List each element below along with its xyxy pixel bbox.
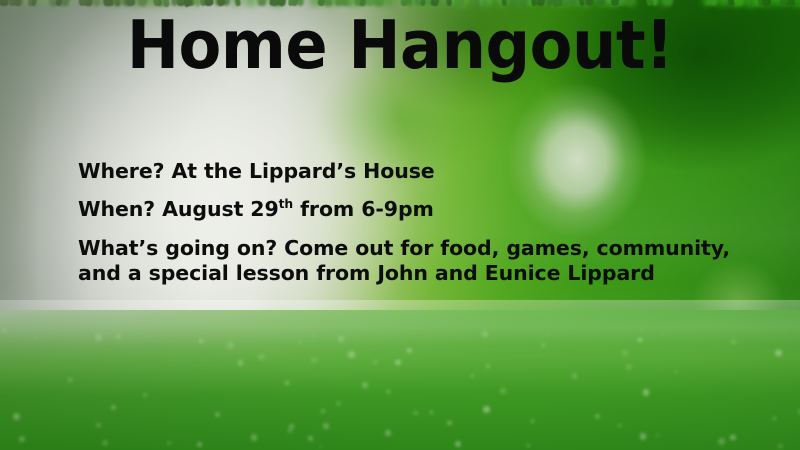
detail-line-when: When? August 29th from 6-9pm bbox=[78, 199, 768, 220]
details-block: Where? At the Lippard’s House When? Augu… bbox=[78, 161, 768, 287]
slide-title: Home Hangout! bbox=[28, 12, 772, 79]
when-suffix: from 6-9pm bbox=[293, 197, 434, 221]
when-ordinal-suffix: th bbox=[279, 197, 293, 211]
slide-content: Home Hangout! Where? At the Lippard’s Ho… bbox=[0, 0, 800, 450]
detail-line-what: What’s going on? Come out for food, game… bbox=[78, 236, 758, 287]
when-prefix: When? August 29 bbox=[78, 197, 279, 221]
flyer-slide: Home Hangout! Where? At the Lippard’s Ho… bbox=[0, 0, 800, 450]
detail-line-where: Where? At the Lippard’s House bbox=[78, 161, 768, 182]
